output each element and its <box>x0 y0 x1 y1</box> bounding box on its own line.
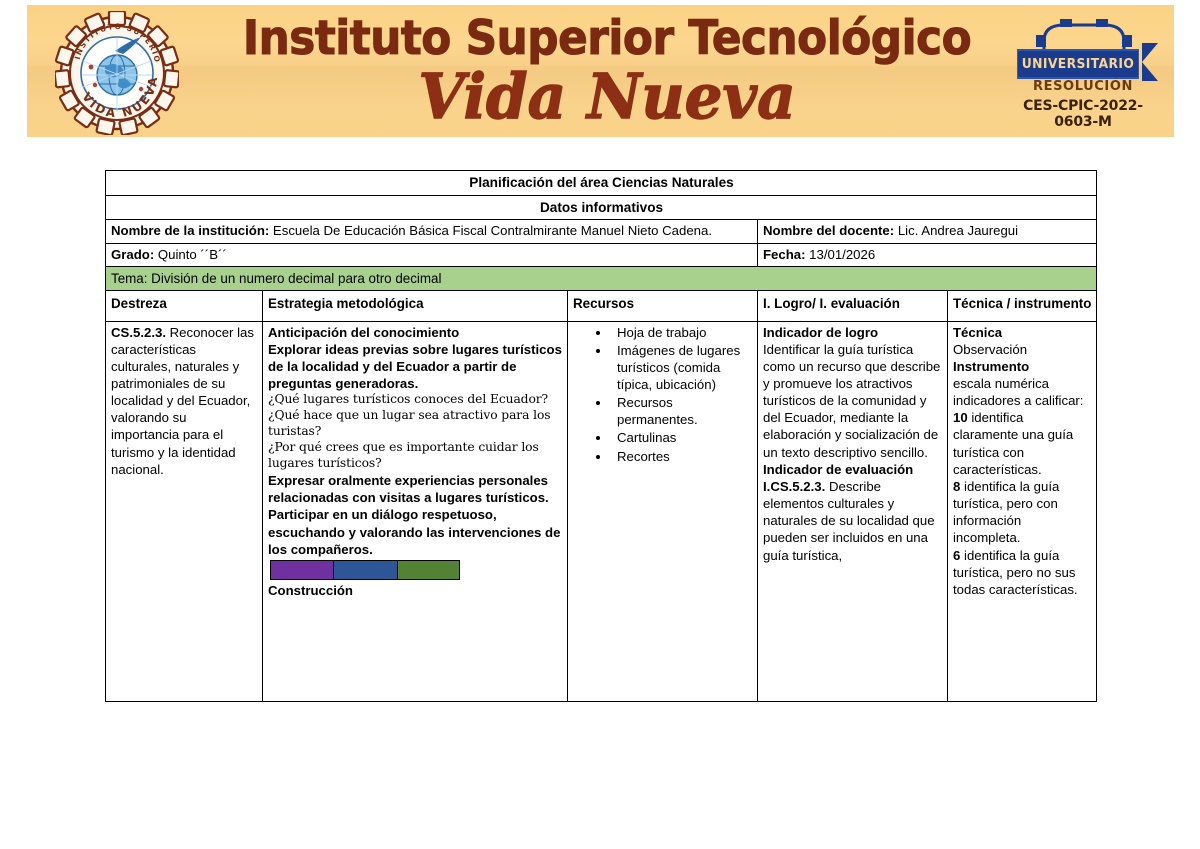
instrumento-value: escala numérica indicadores a calificar: <box>953 375 1092 409</box>
instrumento-label: Instrumento <box>953 358 1092 375</box>
institution-label: Nombre de la institución: <box>111 223 269 238</box>
list-item: Recortes <box>611 448 753 465</box>
topic-cell: Tema: División de un numero decimal para… <box>106 266 1097 290</box>
lesson-plan-table: Planificación del área Ciencias Naturale… <box>105 170 1097 702</box>
banner-titles: Instituto Superior Tecnológico Vida Nuev… <box>197 15 1017 128</box>
color-swatch-purple <box>271 561 334 579</box>
estrategia-question-2: ¿Qué hace que un lugar sea atractivo par… <box>268 408 563 440</box>
institution-value: Escuela De Educación Básica Fiscal Contr… <box>269 223 712 238</box>
table-title-row: Planificación del área Ciencias Naturale… <box>106 171 1097 196</box>
estrategia-intro: Explorar ideas previas sobre lugares tur… <box>268 341 563 392</box>
score-10-value: 10 <box>953 410 968 425</box>
list-item: Cartulinas <box>611 429 753 446</box>
estrategia-paragraph-2: Expresar oralmente experiencias personal… <box>268 472 563 506</box>
topic-row: Tema: División de un numero decimal para… <box>106 266 1097 290</box>
score-10-text: identifica claramente una guía turística… <box>953 410 1073 476</box>
accreditation-seal: UNIVERSITARIO RESOLUCIÓN CES-CPIC-2022-0… <box>1008 19 1158 131</box>
institution-teacher-row: Nombre de la institución: Escuela De Edu… <box>106 220 1097 243</box>
plan-body-row: CS.5.2.3. Reconocer las características … <box>106 321 1097 701</box>
score-8-text: identifica la guía turística, pero con i… <box>953 479 1059 545</box>
institute-name-line2: Vida Nueva <box>213 66 1000 128</box>
list-item: Imágenes de lugares turísticos (comida t… <box>611 342 753 393</box>
evaluacion-code: I.CS.5.2.3. <box>763 479 825 494</box>
recursos-list: Hoja de trabajo Imágenes de lugares turí… <box>573 324 753 465</box>
score-6-text: identifica la guía turística, pero no su… <box>953 548 1078 597</box>
grade-cell: Grado: Quinto ´´B´´ <box>106 243 758 266</box>
cell-tecnica-instrumento: Técnica Observación Instrumento escala n… <box>948 321 1097 701</box>
date-value: 13/01/2026 <box>806 247 876 262</box>
score-8-row: 8 identifica la guía turística, pero con… <box>953 478 1092 547</box>
estrategia-construccion-heading: Construcción <box>268 582 563 599</box>
teacher-value: Lic. Andrea Jauregui <box>894 223 1018 238</box>
evaluacion-text: I.CS.5.2.3. Describe elementos culturale… <box>763 478 943 564</box>
list-item: Hoja de trabajo <box>611 324 753 341</box>
grade-value: Quinto ´´B´´ <box>154 247 227 262</box>
logro-text: Identificar la guía turística como un re… <box>763 341 943 461</box>
evaluacion-heading: Indicador de evaluación <box>763 461 943 478</box>
destreza-description: Reconocer las características culturales… <box>111 325 254 477</box>
cell-recursos: Hoja de trabajo Imágenes de lugares turí… <box>568 321 758 701</box>
column-headers-row: Destreza Estrategia metodológica Recurso… <box>106 291 1097 321</box>
institution-cell: Nombre de la institución: Escuela De Edu… <box>106 220 758 243</box>
table-subtitle-row: Datos informativos <box>106 195 1097 220</box>
header-destreza: Destreza <box>106 291 263 321</box>
score-6-row: 6 identifica la guía turística, pero no … <box>953 547 1092 598</box>
header-recursos: Recursos <box>568 291 758 321</box>
destreza-text: CS.5.2.3. Reconocer las características … <box>111 324 258 478</box>
destreza-code: CS.5.2.3. <box>111 325 166 340</box>
tecnica-label: Técnica <box>953 324 1092 341</box>
list-item: Recursos permanentes. <box>611 394 753 428</box>
estrategia-question-1: ¿Qué lugares turísticos conoces del Ecua… <box>268 392 563 408</box>
estrategia-heading: Anticipación del conocimiento <box>268 324 563 341</box>
logro-heading: Indicador de logro <box>763 324 943 341</box>
tecnica-value: Observación <box>953 341 1092 358</box>
header-logro: I. Logro/ I. evaluación <box>758 291 948 321</box>
teacher-label: Nombre del docente: <box>763 223 894 238</box>
cell-estrategia: Anticipación del conocimiento Explorar i… <box>263 321 568 701</box>
estrategia-paragraph-3: Participar en un diálogo respetuoso, esc… <box>268 506 563 557</box>
seal-resolution-code: CES-CPIC-2022-0603-M <box>1008 98 1158 130</box>
cell-logro-evaluacion: Indicador de logro Identificar la guía t… <box>758 321 948 701</box>
estrategia-question-3: ¿Por qué crees que es importante cuidar … <box>268 440 563 472</box>
institution-header-banner: INSTITUTO SUPERIOR TECNOLOGICO VIDA NUEV… <box>27 5 1174 137</box>
vida-nueva-gear-globe-logo: INSTITUTO SUPERIOR TECNOLOGICO VIDA NUEV… <box>55 11 179 135</box>
grade-date-row: Grado: Quinto ´´B´´ Fecha: 13/01/2026 <box>106 243 1097 266</box>
cell-destreza: CS.5.2.3. Reconocer las características … <box>106 321 263 701</box>
seal-resolution-label: RESOLUCIÓN <box>1008 79 1158 94</box>
plan-title: Planificación del área Ciencias Naturale… <box>106 171 1097 196</box>
date-label: Fecha: <box>763 247 806 262</box>
institute-name-line1: Instituto Superior Tecnológico <box>226 15 989 62</box>
seal-ribbon-label: UNIVERSITARIO <box>1017 49 1139 79</box>
header-tecnica: Técnica / instrumento <box>948 291 1097 321</box>
grade-label: Grado: <box>111 247 154 262</box>
seal-ribbon-tail <box>1142 43 1158 81</box>
color-swatch-blue <box>334 561 397 579</box>
color-strip <box>270 560 460 580</box>
color-swatch-green <box>398 561 459 579</box>
date-cell: Fecha: 13/01/2026 <box>758 243 1097 266</box>
score-10-row: 10 identifica claramente una guía turíst… <box>953 409 1092 478</box>
header-estrategia: Estrategia metodológica <box>263 291 568 321</box>
plan-subtitle: Datos informativos <box>106 195 1097 220</box>
teacher-cell: Nombre del docente: Lic. Andrea Jauregui <box>758 220 1097 243</box>
